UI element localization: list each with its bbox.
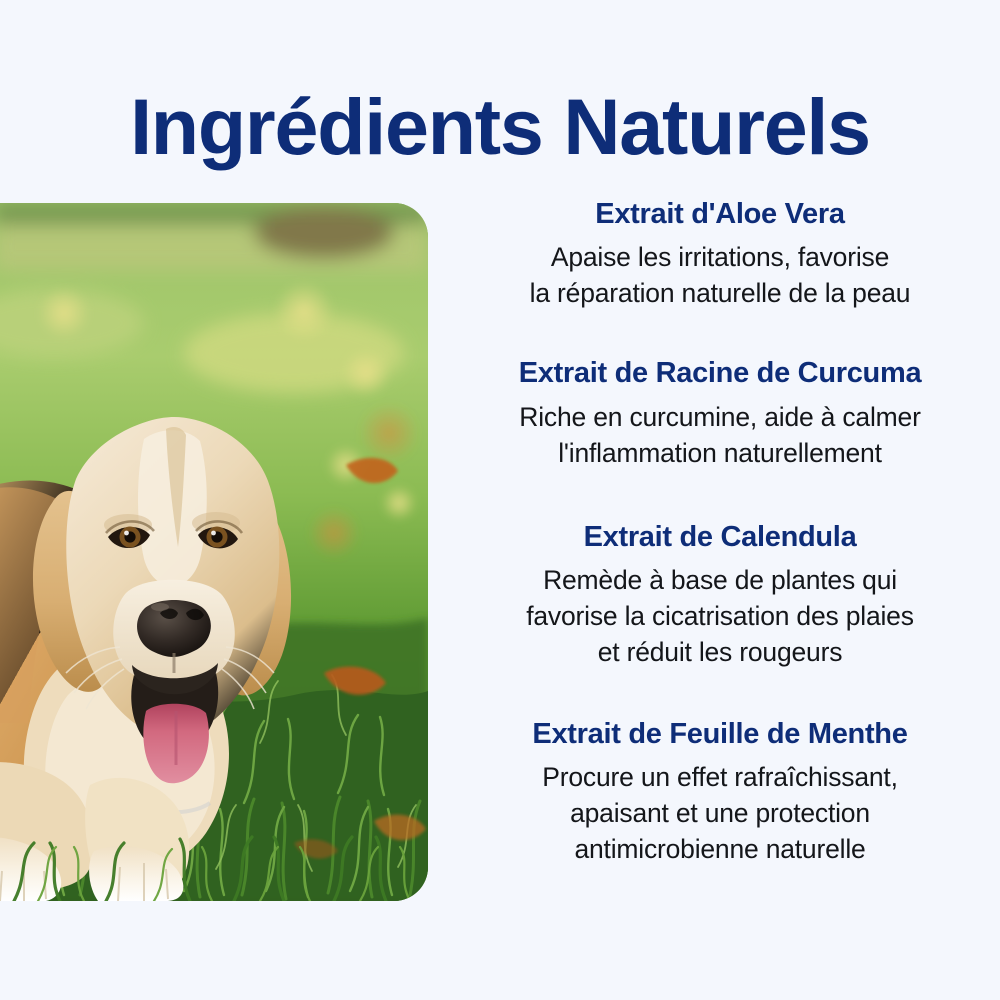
ingredient-item-feuille-de-menthe: Extrait de Feuille de Menthe Procure un … bbox=[455, 716, 985, 867]
ingredient-item-calendula: Extrait de Calendula Remède à base de pl… bbox=[455, 519, 985, 670]
ingredient-item-racine-de-curcuma: Extrait de Racine de Curcuma Riche en cu… bbox=[455, 355, 985, 470]
ingredient-title: Extrait de Feuille de Menthe bbox=[455, 716, 985, 752]
dog-photo bbox=[0, 203, 428, 901]
dog-photo-illustration bbox=[0, 203, 428, 901]
page-title: Ingrédients Naturels bbox=[0, 87, 1000, 166]
description-line: antimicrobienne naturelle bbox=[455, 831, 985, 867]
ingredient-title: Extrait d'Aloe Vera bbox=[455, 196, 985, 232]
description-line: Procure un effet rafraîchissant, bbox=[455, 759, 985, 795]
description-line: l'inflammation naturellement bbox=[455, 435, 985, 471]
ingredient-description: Remède à base de plantes qui favorise la… bbox=[455, 562, 985, 670]
ingredient-description: Procure un effet rafraîchissant, apaisan… bbox=[455, 759, 985, 867]
ingredient-item-aloe-vera: Extrait d'Aloe Vera Apaise les irritatio… bbox=[455, 196, 985, 311]
description-line: et réduit les rougeurs bbox=[455, 634, 985, 670]
description-line: apaisant et une protection bbox=[455, 795, 985, 831]
description-line: Riche en curcumine, aide à calmer bbox=[455, 399, 985, 435]
ingredients-infographic: Ingrédients Naturels bbox=[0, 0, 1000, 1000]
description-line: la réparation naturelle de la peau bbox=[455, 275, 985, 311]
description-line: Remède à base de plantes qui bbox=[455, 562, 985, 598]
ingredients-list: Extrait d'Aloe Vera Apaise les irritatio… bbox=[455, 196, 985, 867]
ingredient-title: Extrait de Racine de Curcuma bbox=[455, 355, 985, 391]
ingredient-description: Apaise les irritations, favorise la répa… bbox=[455, 239, 985, 311]
description-line: Apaise les irritations, favorise bbox=[455, 239, 985, 275]
ingredient-description: Riche en curcumine, aide à calmer l'infl… bbox=[455, 399, 985, 471]
description-line: favorise la cicatrisation des plaies bbox=[455, 598, 985, 634]
ingredient-title: Extrait de Calendula bbox=[455, 519, 985, 555]
